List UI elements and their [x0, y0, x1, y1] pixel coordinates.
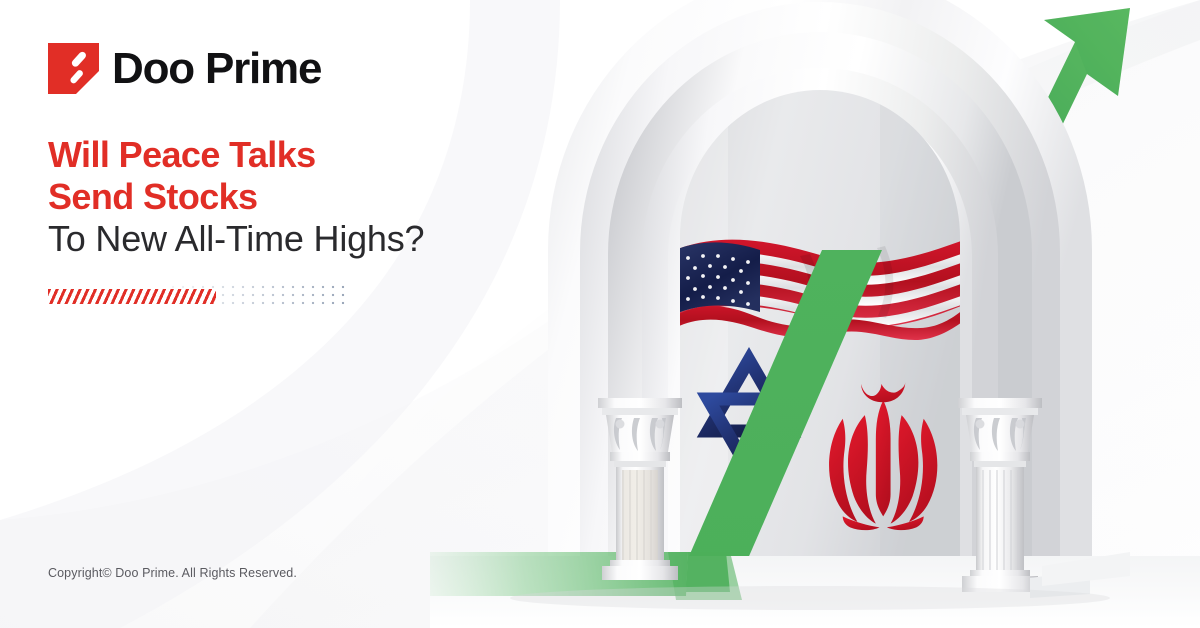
brand-name: Doo Prime — [112, 47, 321, 91]
headline-line-2: Send Stocks — [48, 176, 568, 218]
headline-line-1: Will Peace Talks — [48, 134, 568, 176]
banner-root: Doo Prime Will Peace Talks Send Stocks T… — [0, 0, 1200, 628]
brand-logo[interactable]: Doo Prime — [48, 43, 321, 94]
headline-line-3: To New All-Time Highs? — [48, 218, 568, 260]
headline-block: Will Peace Talks Send Stocks To New All-… — [48, 134, 568, 260]
red-diagonal-hatch-icon — [48, 289, 216, 304]
doo-prime-square-mark-icon — [48, 43, 99, 94]
copyright-text: Copyright© Doo Prime. All Rights Reserve… — [48, 566, 297, 580]
decorative-rule — [48, 283, 348, 309]
hero-artwork — [430, 0, 1200, 628]
